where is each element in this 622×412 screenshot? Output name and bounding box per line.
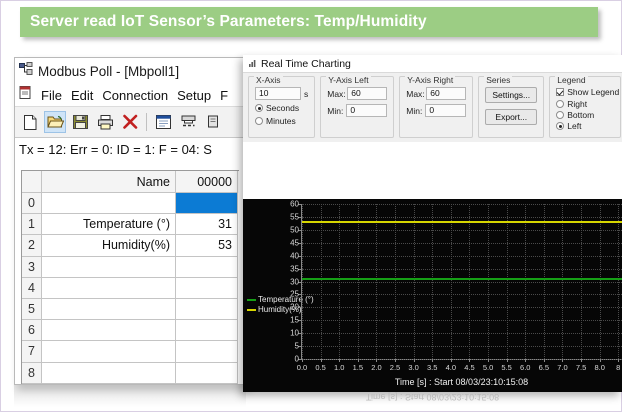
modbus-title-text: Modbus Poll - [Mbpoll1] (38, 64, 179, 79)
x-tickmark (525, 359, 526, 362)
chart-app-icon (248, 55, 257, 73)
y-axis-left-group: Y-Axis Left Max: 60 Min: 0 (320, 76, 394, 138)
x-tickmark (358, 359, 359, 362)
radio-right-label: Right (567, 99, 587, 109)
table-row[interactable]: 3 (22, 257, 239, 278)
y-tick-label: 25 (290, 290, 299, 299)
menu-connection[interactable]: Connection (102, 88, 168, 103)
open-folder-icon[interactable] (44, 111, 66, 133)
show-legend-checkbox-row[interactable]: Show Legend (556, 87, 614, 97)
row-value[interactable]: 53 (176, 235, 238, 256)
header-address: 00000 (176, 171, 238, 193)
x-gridline (302, 204, 303, 359)
charting-titlebar[interactable]: Real Time Charting (243, 55, 622, 72)
y-gridline (302, 346, 622, 347)
y-tick-label: 10 (290, 329, 299, 338)
radio-minutes-icon[interactable] (255, 117, 263, 125)
table-row[interactable]: 7 (22, 341, 239, 362)
row-value[interactable] (176, 363, 238, 384)
row-value[interactable] (176, 278, 238, 299)
x-axis-unit-label: s (304, 89, 308, 99)
series-group-label: Series (484, 76, 512, 85)
modbus-app-icon (19, 62, 33, 81)
table-row[interactable]: 8 (22, 363, 239, 384)
row-name[interactable] (42, 363, 176, 384)
y-left-max-input[interactable]: 60 (347, 87, 387, 100)
modbus-titlebar[interactable]: Modbus Poll - [Mbpoll1] (15, 58, 245, 84)
x-tick-label: 1.0 (334, 363, 344, 372)
x-gridline (525, 204, 526, 359)
row-name[interactable] (42, 278, 176, 299)
x-tick-label: 1.5 (353, 363, 363, 372)
y-gridline (302, 294, 622, 295)
slide-title-banner: Server read IoT Sensor’s Parameters: Tem… (20, 7, 598, 37)
row-name[interactable] (42, 299, 176, 320)
new-file-icon[interactable] (19, 111, 41, 133)
y-right-max-label: Max: (406, 89, 423, 99)
header-name: Name (42, 171, 176, 193)
row-value[interactable] (176, 299, 238, 320)
menu-setup[interactable]: Setup (177, 88, 211, 103)
row-index: 5 (22, 299, 42, 320)
x-tick-label: 0.0 (297, 363, 307, 372)
menu-edit[interactable]: Edit (71, 88, 93, 103)
chart-window-reflection: Time [s] : Start 08/03/23:10:15:08 (243, 392, 622, 410)
menu-functions[interactable]: F (220, 88, 228, 103)
table-row[interactable]: 4 (22, 278, 239, 299)
print-icon[interactable] (94, 111, 116, 133)
x-gridline (618, 204, 619, 359)
row-index: 6 (22, 320, 42, 341)
y-tick-label: 45 (290, 238, 299, 247)
table-row[interactable]: 6 (22, 320, 239, 341)
modbus-data-table[interactable]: Name 00000 0 1 Temperature (°) 31 2 Humi… (21, 170, 239, 384)
row-index: 7 (22, 341, 42, 362)
row-value[interactable] (176, 341, 238, 362)
checkbox-icon[interactable] (556, 88, 564, 96)
y-gridline (302, 320, 622, 321)
y-gridline (302, 256, 622, 257)
x-tickmark (581, 359, 582, 362)
x-tick-label: 4.5 (464, 363, 474, 372)
modbus-menubar[interactable]: File Edit Connection Setup F (15, 84, 245, 106)
x-tick-label: 2.5 (390, 363, 400, 372)
x-axis-span-input[interactable]: 10 (255, 87, 301, 100)
modbus-status-line: Tx = 12: Err = 0: ID = 1: F = 04: S (15, 138, 245, 160)
real-time-charting-window[interactable]: Real Time Charting X-Axis 10 s Seconds M… (243, 55, 622, 392)
y-tick-label: 5 (295, 342, 299, 351)
x-axis-minutes-radio[interactable]: Minutes (255, 116, 308, 126)
menu-file[interactable]: File (41, 88, 62, 103)
y-axis-right-group-label: Y-Axis Right (405, 76, 455, 85)
row-index: 0 (22, 193, 42, 214)
x-gridline (600, 204, 601, 359)
row-name[interactable] (42, 257, 176, 278)
x-tickmark (414, 359, 415, 362)
x-gridline (395, 204, 396, 359)
x-gridline (488, 204, 489, 359)
x-gridline (544, 204, 545, 359)
window-list-icon[interactable] (152, 111, 174, 133)
y-tick-label: 35 (290, 264, 299, 273)
x-tickmark (376, 359, 377, 362)
show-legend-label: Show Legend (567, 87, 619, 97)
x-tickmark (432, 359, 433, 362)
document-icon (19, 86, 32, 104)
legend-group-label: Legend (555, 76, 587, 85)
y-gridline (302, 307, 622, 308)
page-title: Server read IoT Sensor’s Parameters: Tem… (20, 13, 427, 31)
radio-minutes-label: Minutes (266, 116, 296, 126)
y-gridline (302, 359, 622, 360)
toolbar-separator (146, 113, 147, 131)
partial-tool-icon[interactable] (202, 111, 224, 133)
x-tick-label: 0.5 (315, 363, 325, 372)
row-index: 8 (22, 363, 42, 384)
x-tick-label: 5.5 (501, 363, 511, 372)
x-tickmark (488, 359, 489, 362)
series-export-button[interactable]: Export... (485, 109, 537, 125)
y-tick-label: 15 (290, 316, 299, 325)
x-tickmark (321, 359, 322, 362)
x-tick-label: 2.0 (371, 363, 381, 372)
x-tick-label: 8 (616, 363, 620, 372)
table-header-row: Name 00000 (22, 171, 239, 193)
radio-seconds-label: Seconds (266, 103, 299, 113)
x-gridline (376, 204, 377, 359)
row-value[interactable] (176, 320, 238, 341)
x-tickmark (469, 359, 470, 362)
modbus-window-reflection (14, 385, 246, 407)
y-gridline (302, 217, 622, 218)
x-gridline (562, 204, 563, 359)
row-name[interactable] (42, 341, 176, 362)
modbus-spacer (15, 160, 245, 170)
x-gridline (451, 204, 452, 359)
y-left-min-label: Min: (327, 106, 343, 116)
x-tick-label: 3.5 (427, 363, 437, 372)
radio-bottom-icon[interactable] (556, 111, 564, 119)
save-disk-icon[interactable] (69, 111, 91, 133)
x-gridline (507, 204, 508, 359)
x-tickmark (395, 359, 396, 362)
y-left-min-input[interactable]: 0 (346, 104, 387, 117)
modbus-toolbar[interactable] (15, 106, 245, 138)
row-value[interactable]: 31 (176, 214, 238, 235)
y-axis-right-group: Y-Axis Right Max: 60 Min: 0 (399, 76, 473, 138)
x-tickmark (302, 359, 303, 362)
row-value[interactable] (176, 193, 238, 214)
x-axis-title: Time [s] : Start 08/03/23:10:15:08 (301, 377, 622, 387)
row-index: 3 (22, 257, 42, 278)
delete-x-icon[interactable] (119, 111, 141, 133)
row-name[interactable]: Temperature (°) (42, 214, 176, 235)
y-gridline (302, 333, 622, 334)
x-gridline (321, 204, 322, 359)
y-right-min-label: Min: (406, 106, 422, 116)
y-gridline (302, 282, 622, 283)
y-tick-label: 20 (290, 303, 299, 312)
x-tickmark (544, 359, 545, 362)
radio-seconds-icon[interactable] (255, 104, 263, 112)
charting-controls[interactable]: X-Axis 10 s Seconds Minutes Y-Axis Left … (243, 72, 622, 142)
row-index: 1 (22, 214, 42, 235)
series-settings-button[interactable]: Settings... (485, 87, 537, 103)
y-right-max-input[interactable]: 60 (426, 87, 466, 100)
x-tick-label: 4.0 (446, 363, 456, 372)
y-left-max-label: Max: (327, 89, 344, 99)
x-gridline (414, 204, 415, 359)
row-value[interactable] (176, 257, 238, 278)
table-row[interactable]: 1 Temperature (°) 31 (22, 214, 239, 235)
x-gridline (432, 204, 433, 359)
x-gridline (358, 204, 359, 359)
series-line-temperature (302, 278, 622, 280)
x-tickmark (339, 359, 340, 362)
modbus-poll-window[interactable]: Modbus Poll - [Mbpoll1] File Edit Connec… (14, 57, 246, 385)
legend-right-radio[interactable]: Right (556, 99, 614, 109)
series-group: Series Settings... Export... (478, 76, 544, 138)
x-gridline (469, 204, 470, 359)
x-tick-label: 3.0 (408, 363, 418, 372)
row-name[interactable]: Humidity(%) (42, 235, 176, 256)
x-gridline (339, 204, 340, 359)
y-gridline (302, 243, 622, 244)
legend-group: Legend Show Legend Right Bottom Left (549, 76, 621, 138)
x-axis-group: X-Axis 10 s Seconds Minutes (248, 76, 315, 138)
y-gridline (302, 204, 622, 205)
x-tick-label: 7.0 (557, 363, 567, 372)
x-tick-label: 5.0 (483, 363, 493, 372)
y-gridline (302, 230, 622, 231)
x-tickmark (618, 359, 619, 362)
y-tick-label: 50 (290, 225, 299, 234)
y-right-min-input[interactable]: 0 (425, 104, 466, 117)
y-axis-left-group-label: Y-Axis Left (326, 76, 370, 85)
x-tickmark (600, 359, 601, 362)
radio-left-label: Left (567, 121, 581, 131)
y-tick-label: 30 (290, 277, 299, 286)
row-index: 2 (22, 235, 42, 256)
radio-left-icon[interactable] (556, 122, 564, 130)
x-tick-label: 7.5 (576, 363, 586, 372)
x-tickmark (562, 359, 563, 362)
row-index: 4 (22, 278, 42, 299)
row-name[interactable] (42, 320, 176, 341)
legend-swatch-temperature-icon (247, 299, 256, 301)
charting-title-text: Real Time Charting (261, 58, 351, 70)
y-tick-label: 60 (290, 200, 299, 209)
row-name[interactable] (42, 193, 176, 214)
legend-bottom-radio[interactable]: Bottom (556, 110, 614, 120)
x-tick-label: 8.0 (594, 363, 604, 372)
x-gridline (581, 204, 582, 359)
reflection-text: Time [s] : Start 08/03/23:10:15:08 (243, 392, 622, 402)
read-write-icon[interactable] (177, 111, 199, 133)
chart-plot-area: 051015202530354045505560 0.00.51.01.52.0… (301, 204, 622, 359)
radio-right-icon[interactable] (556, 100, 564, 108)
x-axis-group-label: X-Axis (254, 76, 283, 85)
x-axis-seconds-radio[interactable]: Seconds (255, 103, 308, 113)
table-row[interactable]: 2 Humidity(%) 53 (22, 235, 239, 256)
radio-bottom-label: Bottom (567, 110, 594, 120)
x-tick-label: 6.0 (520, 363, 530, 372)
chart-canvas: Temperature (°) Humidity(%) 051015202530… (243, 199, 622, 392)
x-tickmark (507, 359, 508, 362)
x-tick-label: 6.5 (539, 363, 549, 372)
y-gridline (302, 269, 622, 270)
table-row[interactable]: 5 (22, 299, 239, 320)
legend-swatch-humidity-icon (247, 309, 256, 311)
legend-left-radio[interactable]: Left (556, 121, 614, 131)
series-line-humidity (302, 221, 622, 223)
y-tick-label: 40 (290, 251, 299, 260)
x-tickmark (451, 359, 452, 362)
header-index (22, 171, 42, 193)
table-row[interactable]: 0 (22, 193, 239, 214)
y-tick-label: 55 (290, 212, 299, 221)
